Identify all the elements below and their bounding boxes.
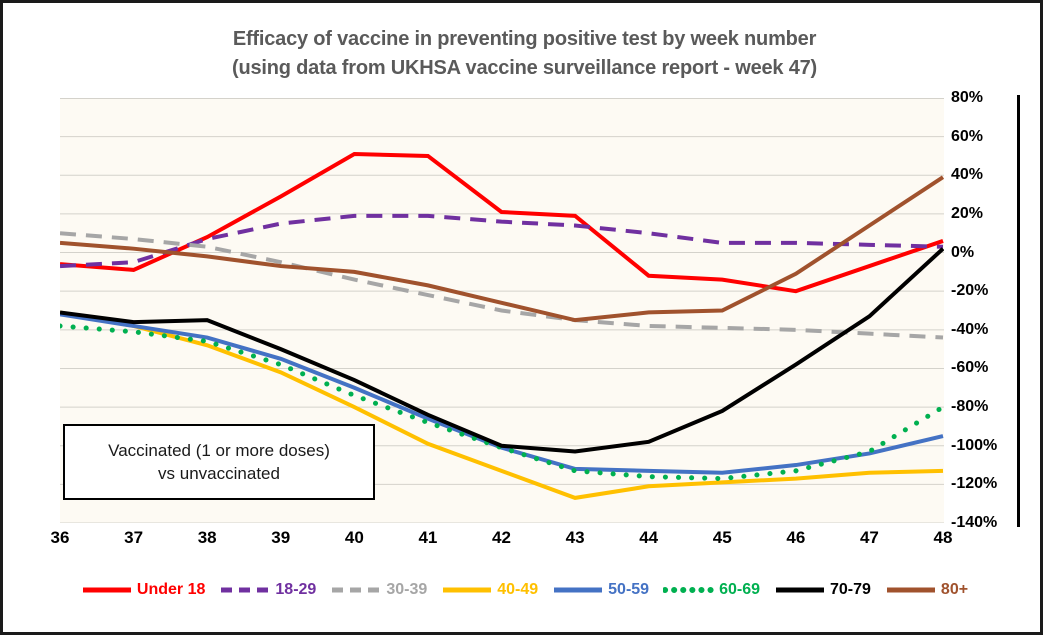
chart-legend: Under 1818-2930-3940-4950-5960-6970-7980… <box>3 581 1043 599</box>
legend-item-18-29[interactable]: 18-29 <box>219 581 316 599</box>
x-tick-label: 48 <box>923 528 963 548</box>
legend-swatch-50-59 <box>552 582 604 598</box>
legend-item-under-18[interactable]: Under 18 <box>81 581 205 599</box>
title-line-2: (using data from UKHSA vaccine surveilla… <box>3 54 1043 83</box>
legend-item-70-79[interactable]: 70-79 <box>774 581 871 599</box>
y-tick-label: 20% <box>951 205 1015 223</box>
y-axis-line <box>1017 95 1020 527</box>
legend-item-50-59[interactable]: 50-59 <box>552 581 649 599</box>
page-title: Efficacy of vaccine in preventing positi… <box>3 25 1043 83</box>
legend-swatch-80 <box>885 582 937 598</box>
annotation-line-1: Vaccinated (1 or more doses) <box>108 439 330 462</box>
chart-page: Efficacy of vaccine in preventing positi… <box>0 0 1043 635</box>
legend-label-60-69: 60-69 <box>719 581 760 599</box>
x-tick-label: 47 <box>849 528 889 548</box>
x-tick-label: 44 <box>629 528 669 548</box>
x-tick-label: 41 <box>408 528 448 548</box>
x-tick-label: 36 <box>40 528 80 548</box>
legend-swatch-40-49 <box>441 582 493 598</box>
x-tick-label: 43 <box>555 528 595 548</box>
y-tick-label: 80% <box>951 89 1015 107</box>
legend-swatch-60-69 <box>663 582 715 598</box>
legend-label-40-49: 40-49 <box>497 581 538 599</box>
title-line-1: Efficacy of vaccine in preventing positi… <box>3 25 1043 54</box>
x-tick-label: 46 <box>776 528 816 548</box>
y-tick-label: 40% <box>951 166 1015 184</box>
series-line-80 <box>60 177 943 320</box>
legend-label-18-29: 18-29 <box>275 581 316 599</box>
legend-item-80[interactable]: 80+ <box>885 581 968 599</box>
legend-swatch-18-29 <box>219 582 271 598</box>
legend-swatch-under-18 <box>81 582 133 598</box>
y-tick-label: -20% <box>951 282 1015 300</box>
y-tick-label: -80% <box>951 398 1015 416</box>
x-tick-label: 45 <box>702 528 742 548</box>
legend-item-40-49[interactable]: 40-49 <box>441 581 538 599</box>
x-tick-label: 39 <box>261 528 301 548</box>
legend-label-under-18: Under 18 <box>137 581 205 599</box>
legend-label-70-79: 70-79 <box>830 581 871 599</box>
legend-label-50-59: 50-59 <box>608 581 649 599</box>
legend-item-60-69[interactable]: 60-69 <box>663 581 760 599</box>
y-tick-label: -60% <box>951 359 1015 377</box>
legend-item-30-39[interactable]: 30-39 <box>330 581 427 599</box>
legend-swatch-30-39 <box>330 582 382 598</box>
y-tick-label: -120% <box>951 475 1015 493</box>
legend-swatch-70-79 <box>774 582 826 598</box>
series-line-70-79 <box>60 249 943 452</box>
legend-label-30-39: 30-39 <box>386 581 427 599</box>
y-tick-label: -40% <box>951 321 1015 339</box>
y-tick-label: 60% <box>951 128 1015 146</box>
y-tick-label: -100% <box>951 437 1015 455</box>
plot-top-border <box>60 98 944 99</box>
series-line-18-29 <box>60 216 943 266</box>
x-tick-label: 38 <box>187 528 227 548</box>
annotation-line-2: vs unvaccinated <box>158 462 280 485</box>
x-tick-label: 37 <box>114 528 154 548</box>
x-tick-label: 40 <box>334 528 374 548</box>
x-tick-label: 42 <box>482 528 522 548</box>
annotation-textbox: Vaccinated (1 or more doses) vs unvaccin… <box>63 424 375 500</box>
legend-label-80: 80+ <box>941 581 968 599</box>
y-tick-label: 0% <box>951 244 1015 262</box>
